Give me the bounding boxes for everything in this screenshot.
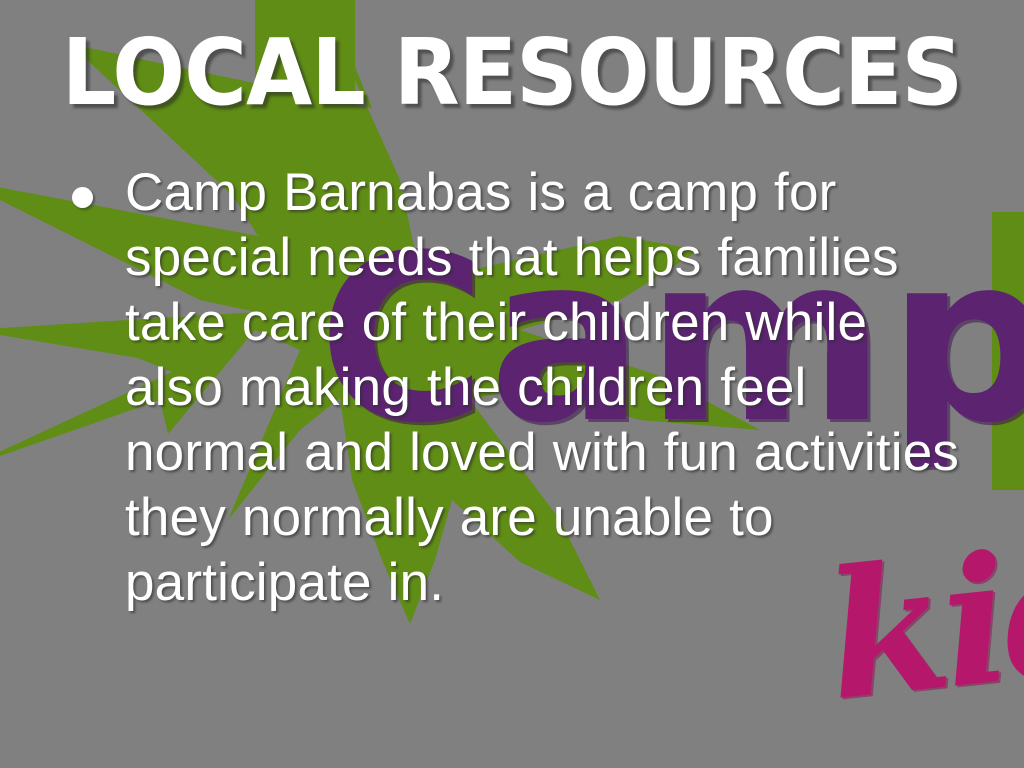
bullet-list-item: Camp Barnabas is a camp for special need… bbox=[62, 160, 962, 615]
bullet-dot-icon bbox=[72, 187, 93, 208]
slide-title: LOCAL RESOURCES bbox=[36, 26, 988, 120]
presentation-slide: Camp kids LOCAL RESOURCES Camp Barnabas … bbox=[0, 0, 1024, 768]
slide-body: Camp Barnabas is a camp for special need… bbox=[62, 160, 962, 615]
green-vertical-bar-right bbox=[992, 212, 1024, 490]
bullet-item-text: Camp Barnabas is a camp for special need… bbox=[62, 160, 962, 615]
